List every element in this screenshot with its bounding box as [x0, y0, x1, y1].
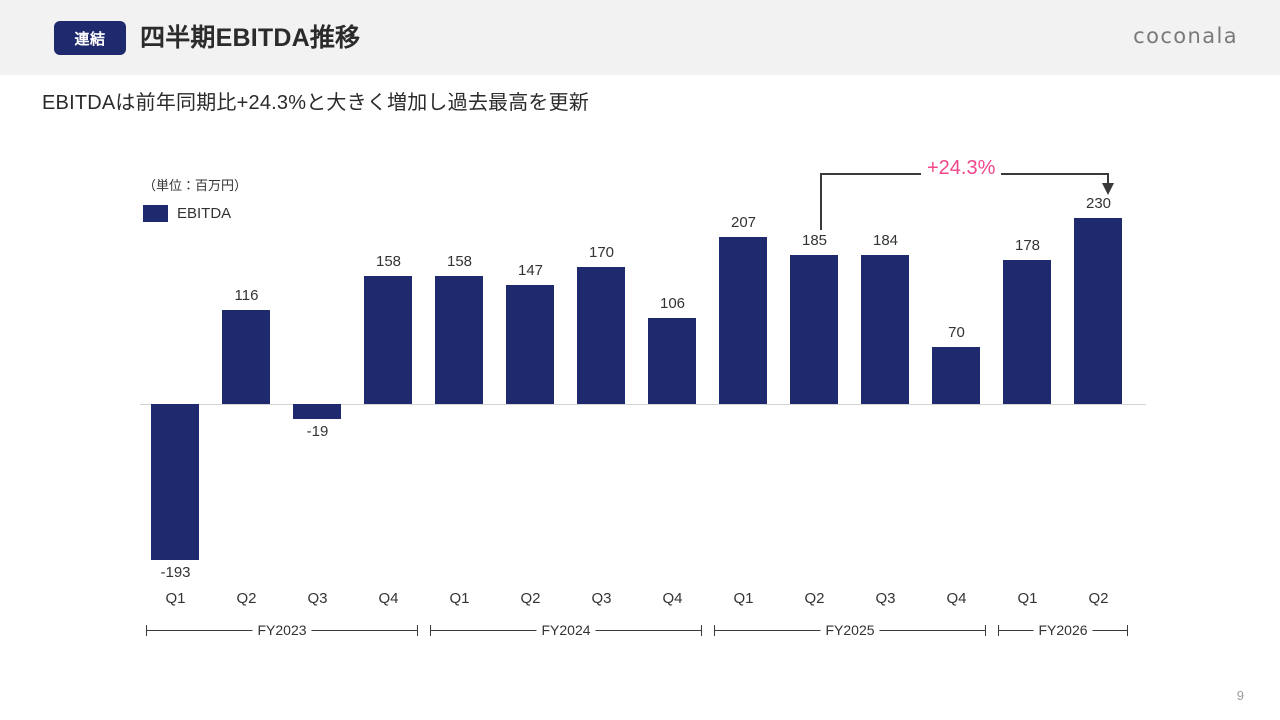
- bar[interactable]: [151, 404, 199, 560]
- fiscal-year-brackets: FY2023FY2024FY2025FY2026: [140, 620, 1146, 646]
- bar-value-label: 207: [708, 214, 779, 231]
- x-axis-tick-label: Q1: [992, 590, 1063, 607]
- bar[interactable]: [506, 285, 554, 404]
- fiscal-year-cap-left: [146, 625, 147, 636]
- x-axis-tick-label: Q1: [140, 590, 211, 607]
- fiscal-year-group: FY2023: [146, 620, 418, 642]
- bar-slot: 170: [566, 150, 637, 610]
- fiscal-year-group: FY2025: [714, 620, 986, 642]
- bar-value-label: 147: [495, 262, 566, 279]
- x-axis-labels: Q1Q2Q3Q4Q1Q2Q3Q4Q1Q2Q3Q4Q1Q2: [140, 590, 1146, 612]
- x-axis-tick-label: Q4: [921, 590, 992, 607]
- x-axis-tick-label: Q3: [850, 590, 921, 607]
- bar[interactable]: [648, 318, 696, 404]
- bar-slot: 158: [424, 150, 495, 610]
- bar-slot: -193: [140, 150, 211, 610]
- fiscal-year-label: FY2025: [820, 620, 879, 640]
- bar-value-label: 116: [211, 287, 282, 304]
- brand-logo: coconala: [1133, 24, 1238, 48]
- bar[interactable]: [364, 276, 412, 404]
- fiscal-year-cap-right: [985, 625, 986, 636]
- fiscal-year-group: FY2026: [998, 620, 1128, 642]
- x-axis-tick-label: Q2: [1063, 590, 1134, 607]
- bar-value-label: -19: [282, 423, 353, 440]
- fiscal-year-label: FY2023: [252, 620, 311, 640]
- bar-slot: 158: [353, 150, 424, 610]
- bar-slot: 116: [211, 150, 282, 610]
- x-axis-tick-label: Q2: [211, 590, 282, 607]
- fiscal-year-cap-left: [714, 625, 715, 636]
- bar[interactable]: [293, 404, 341, 419]
- bar-slot: 106: [637, 150, 708, 610]
- bar[interactable]: [790, 255, 838, 404]
- growth-percentage-label: +24.3%: [921, 155, 1001, 181]
- bar-value-label: 106: [637, 295, 708, 312]
- x-axis-tick-label: Q1: [708, 590, 779, 607]
- consolidated-badge: 連結: [54, 21, 126, 55]
- bar[interactable]: [435, 276, 483, 404]
- x-axis-tick-label: Q4: [637, 590, 708, 607]
- fiscal-year-group: FY2024: [430, 620, 702, 642]
- bar-slot: 207: [708, 150, 779, 610]
- bar[interactable]: [719, 237, 767, 404]
- bar[interactable]: [577, 267, 625, 404]
- x-axis-tick-label: Q4: [353, 590, 424, 607]
- bar[interactable]: [861, 255, 909, 404]
- page-title: 四半期EBITDA推移: [140, 20, 360, 56]
- bar-value-label: 70: [921, 324, 992, 341]
- bar-slot: -19: [282, 150, 353, 610]
- x-axis-tick-label: Q2: [495, 590, 566, 607]
- fiscal-year-cap-right: [701, 625, 702, 636]
- growth-annotation: +24.3%: [800, 155, 1140, 245]
- subtitle-text: EBITDAは前年同期比+24.3%と大きく増加し過去最高を更新: [42, 86, 589, 115]
- x-axis-tick-label: Q3: [566, 590, 637, 607]
- bar-value-label: -193: [140, 564, 211, 581]
- bar[interactable]: [932, 347, 980, 404]
- bar[interactable]: [222, 310, 270, 404]
- bar-value-label: 158: [424, 253, 495, 270]
- fiscal-year-cap-right: [1127, 625, 1128, 636]
- bar[interactable]: [1074, 218, 1122, 404]
- fiscal-year-label: FY2026: [1033, 620, 1092, 640]
- x-axis-tick-label: Q3: [282, 590, 353, 607]
- bar-slot: 147: [495, 150, 566, 610]
- fiscal-year-cap-right: [417, 625, 418, 636]
- bar[interactable]: [1003, 260, 1051, 404]
- fiscal-year-cap-left: [430, 625, 431, 636]
- fiscal-year-cap-left: [998, 625, 999, 636]
- bar-value-label: 158: [353, 253, 424, 270]
- x-axis-tick-label: Q2: [779, 590, 850, 607]
- x-axis-tick-label: Q1: [424, 590, 495, 607]
- page-number: 9: [1237, 688, 1244, 703]
- header-band: 連結 四半期EBITDA推移 coconala: [0, 0, 1280, 75]
- bar-value-label: 170: [566, 244, 637, 261]
- fiscal-year-label: FY2024: [536, 620, 595, 640]
